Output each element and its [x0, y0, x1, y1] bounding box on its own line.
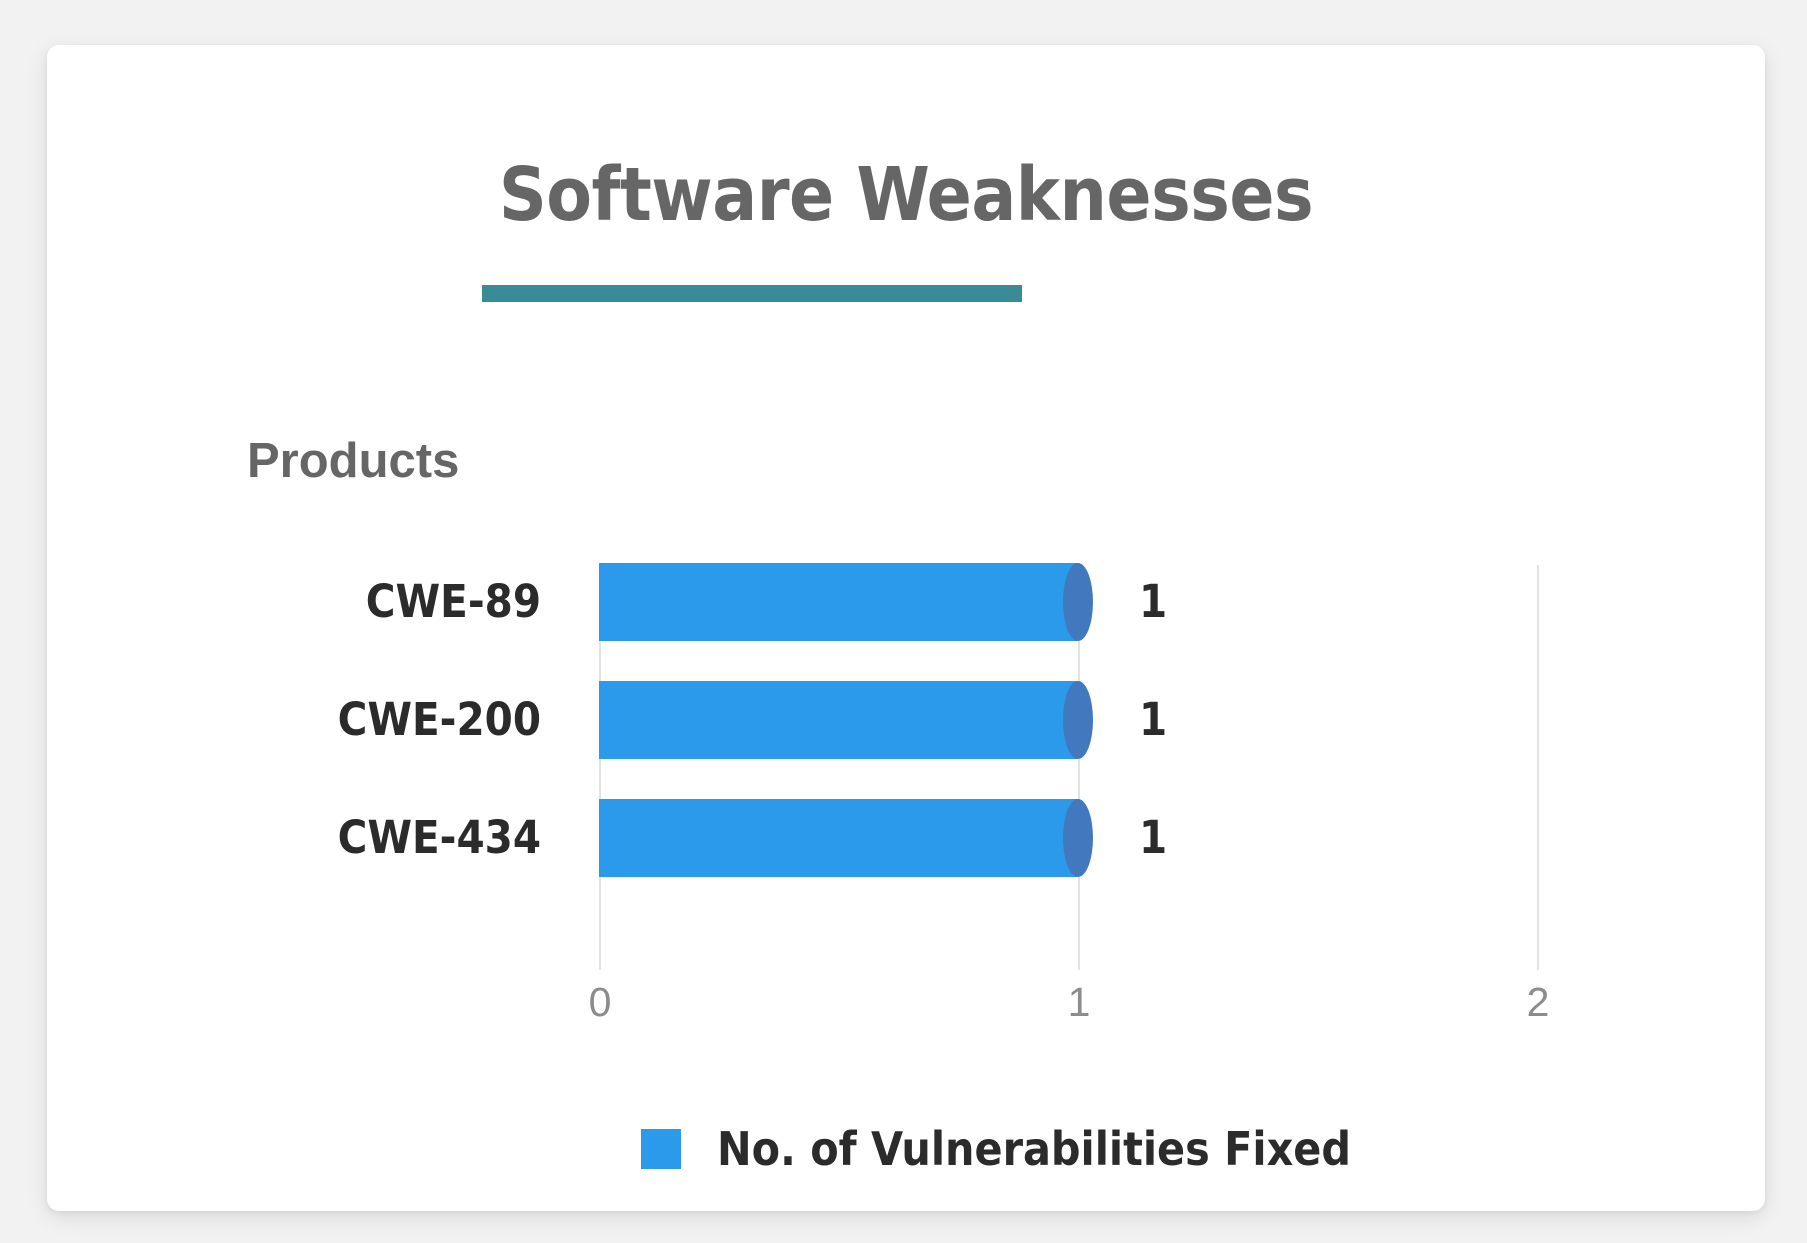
bar-row[interactable]: CWE-200 1 [599, 681, 1078, 759]
legend-item[interactable]: No. of Vulnerabilities Fixed [641, 1123, 1351, 1175]
bar-fill [599, 563, 1078, 641]
chart-legend: No. of Vulnerabilities Fixed [47, 1123, 1765, 1175]
bar-category-label: CWE-89 [366, 576, 541, 628]
bar-fill [599, 799, 1078, 877]
bar-category-label: CWE-434 [338, 812, 541, 864]
bar-row[interactable]: CWE-434 1 [599, 799, 1078, 877]
x-tick-label-1: 1 [1068, 979, 1091, 1025]
bar-value-label: 1 [1139, 812, 1167, 864]
bar-end-cap [1063, 563, 1093, 641]
bar-value-label: 1 [1139, 576, 1167, 628]
legend-item-label: No. of Vulnerabilities Fixed [717, 1123, 1351, 1175]
plot-area: 0 1 2 CWE-89 1 CWE-200 1 CWE-434 1 [47, 45, 1765, 1211]
bar-category-label: CWE-200 [338, 694, 541, 746]
chart-card: Software Weaknesses Products 0 1 2 CWE-8… [47, 45, 1765, 1211]
x-tick-label-0: 0 [589, 979, 612, 1025]
x-tick-label-2: 2 [1527, 979, 1550, 1025]
bar-value-label: 1 [1139, 694, 1167, 746]
bar-end-cap [1063, 681, 1093, 759]
bar-fill [599, 681, 1078, 759]
bar-row[interactable]: CWE-89 1 [599, 563, 1078, 641]
gridline-2 [1537, 565, 1539, 970]
bar-end-cap [1063, 799, 1093, 877]
legend-swatch-icon [641, 1129, 681, 1169]
